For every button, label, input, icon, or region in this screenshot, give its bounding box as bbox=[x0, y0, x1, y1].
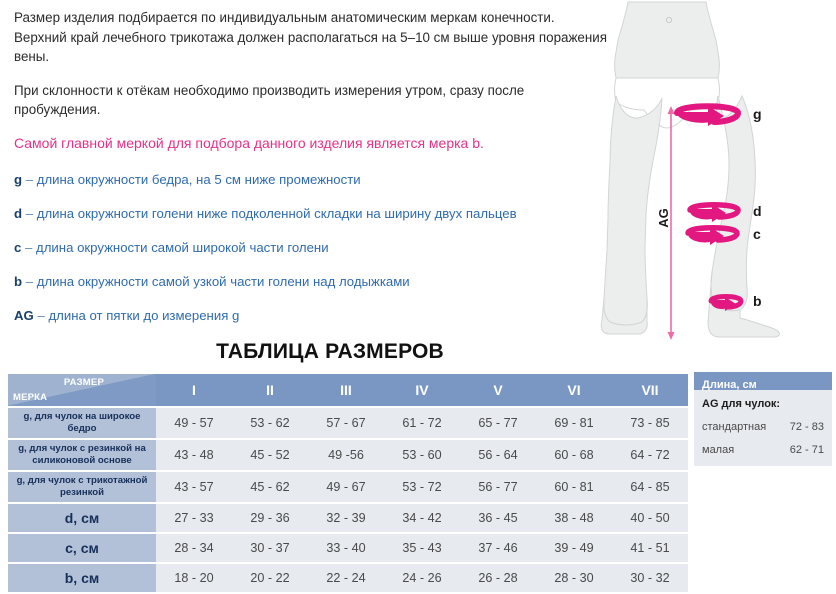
cell-r3-c3: 34 - 42 bbox=[384, 504, 460, 532]
definition-key-ag: AG bbox=[14, 308, 34, 323]
cell-r1-c6: 64 - 72 bbox=[612, 440, 688, 470]
intro-highlight: Самой главной меркой для подбора данного… bbox=[14, 134, 609, 154]
cell-r5-c3: 24 - 26 bbox=[384, 564, 460, 592]
length-row-standard-name: стандартная bbox=[702, 421, 766, 433]
definition-text-d: длина окружности голени ниже подколенной… bbox=[37, 206, 517, 221]
cell-r2-c5: 60 - 81 bbox=[536, 472, 612, 502]
cell-r4-c5: 39 - 49 bbox=[536, 534, 612, 562]
marker-label-d: d bbox=[753, 203, 762, 219]
definition-dash-d: – bbox=[26, 206, 33, 221]
cell-r3-c1: 29 - 36 bbox=[232, 504, 308, 532]
column-header-6: VI bbox=[536, 374, 612, 406]
marker-label-b: b bbox=[753, 293, 762, 309]
cell-r5-c6: 30 - 32 bbox=[612, 564, 688, 592]
cell-r2-c0: 43 - 57 bbox=[156, 472, 232, 502]
definition-b: b – длина окружности самой узкой части г… bbox=[14, 273, 609, 290]
table-row: d, см 27 - 33 29 - 36 32 - 39 34 - 42 36… bbox=[8, 504, 688, 532]
row-label-b: b, см bbox=[8, 564, 156, 592]
table-row: c, см 28 - 34 30 - 37 33 - 40 35 - 43 37… bbox=[8, 534, 688, 562]
row-label-d: d, см bbox=[8, 504, 156, 532]
corner-measure-label: МЕРКА bbox=[13, 392, 47, 403]
length-row-small: малая 62 - 71 bbox=[702, 444, 824, 456]
definition-text-ag: длина от пятки до измерения g bbox=[48, 308, 239, 323]
intro-paragraph-2: При склонности к отёкам необходимо произ… bbox=[14, 81, 609, 120]
definition-text-b: длина окружности самой узкой части голен… bbox=[37, 274, 410, 289]
marker-label-c: c bbox=[753, 226, 761, 242]
cell-r1-c1: 45 - 52 bbox=[232, 440, 308, 470]
definition-key-d: d bbox=[14, 206, 22, 221]
cell-r5-c0: 18 - 20 bbox=[156, 564, 232, 592]
row-label-g-wide-thigh: g, для чулок на широкое бедро bbox=[8, 408, 156, 438]
definition-dash-c: – bbox=[25, 240, 32, 255]
ag-label: AG bbox=[656, 208, 671, 228]
cell-r5-c4: 26 - 28 bbox=[460, 564, 536, 592]
cell-r0-c3: 61 - 72 bbox=[384, 408, 460, 438]
definition-dash-ag: – bbox=[37, 308, 44, 323]
row-label-g-knit-band: g, для чулок с трикотажной резинкой bbox=[8, 472, 156, 502]
page-title: ТАБЛИЦА РАЗМЕРОВ bbox=[0, 340, 660, 364]
definition-text-g: длина окружности бедра, на 5 см ниже про… bbox=[37, 172, 361, 187]
corner-size-label: РАЗМЕР bbox=[64, 377, 104, 388]
length-row-small-value: 62 - 71 bbox=[790, 444, 824, 456]
column-header-1: I bbox=[156, 374, 232, 406]
cell-r2-c4: 56 - 77 bbox=[460, 472, 536, 502]
length-row-standard: стандартная 72 - 83 bbox=[702, 421, 824, 433]
leg-measurement-illustration: AG bbox=[598, 0, 836, 345]
row-label-g-silicone-band: g, для чулок с резинкой на силиконовой о… bbox=[8, 440, 156, 470]
length-panel-body: AG для чулок: стандартная 72 - 83 малая … bbox=[694, 390, 832, 466]
cell-r0-c5: 69 - 81 bbox=[536, 408, 612, 438]
cell-r1-c5: 60 - 68 bbox=[536, 440, 612, 470]
cell-r1-c3: 53 - 60 bbox=[384, 440, 460, 470]
definition-key-c: c bbox=[14, 240, 21, 255]
cell-r4-c2: 33 - 40 bbox=[308, 534, 384, 562]
length-row-standard-value: 72 - 83 bbox=[790, 421, 824, 433]
cell-r4-c3: 35 - 43 bbox=[384, 534, 460, 562]
table-row: g, для чулок на широкое бедро 49 - 57 53… bbox=[8, 408, 688, 438]
cell-r3-c6: 40 - 50 bbox=[612, 504, 688, 532]
cell-r2-c1: 45 - 62 bbox=[232, 472, 308, 502]
definition-dash-g: – bbox=[26, 172, 33, 187]
cell-r5-c1: 20 - 22 bbox=[232, 564, 308, 592]
body-silhouette bbox=[601, 2, 779, 337]
definition-ag: AG – длина от пятки до измерения g bbox=[14, 307, 609, 324]
cell-r4-c4: 37 - 46 bbox=[460, 534, 536, 562]
definition-text-c: длина окружности самой широкой части гол… bbox=[36, 240, 329, 255]
cell-r3-c2: 32 - 39 bbox=[308, 504, 384, 532]
row-label-c: c, см bbox=[8, 534, 156, 562]
cell-r0-c0: 49 - 57 bbox=[156, 408, 232, 438]
length-panel: Длина, см AG для чулок: стандартная 72 -… bbox=[694, 372, 832, 466]
column-header-7: VII bbox=[612, 374, 688, 406]
cell-r2-c6: 64 - 85 bbox=[612, 472, 688, 502]
cell-r0-c4: 65 - 77 bbox=[460, 408, 536, 438]
cell-r1-c2: 49 -56 bbox=[308, 440, 384, 470]
cell-r5-c5: 28 - 30 bbox=[536, 564, 612, 592]
cell-r0-c6: 73 - 85 bbox=[612, 408, 688, 438]
definition-key-b: b bbox=[14, 274, 22, 289]
cell-r5-c2: 22 - 24 bbox=[308, 564, 384, 592]
cell-r2-c3: 53 - 72 bbox=[384, 472, 460, 502]
intro-text-column: Размер изделия подбирается по индивидуал… bbox=[14, 8, 609, 341]
table-row: b, см 18 - 20 20 - 22 22 - 24 24 - 26 26… bbox=[8, 564, 688, 592]
size-table: РАЗМЕР МЕРКА I II III IV V VI VII g, для… bbox=[8, 372, 688, 594]
cell-r1-c4: 56 - 64 bbox=[460, 440, 536, 470]
definition-dash-b: – bbox=[26, 274, 33, 289]
measurement-definitions-list: g – длина окружности бедра, на 5 см ниже… bbox=[14, 171, 609, 324]
definition-d: d – длина окружности голени ниже подколе… bbox=[14, 205, 609, 222]
marker-label-g: g bbox=[753, 106, 762, 122]
cell-r3-c0: 27 - 33 bbox=[156, 504, 232, 532]
definition-g: g – длина окружности бедра, на 5 см ниже… bbox=[14, 171, 609, 188]
cell-r0-c1: 53 - 62 bbox=[232, 408, 308, 438]
column-header-5: V bbox=[460, 374, 536, 406]
table-row: g, для чулок с трикотажной резинкой 43 -… bbox=[8, 472, 688, 502]
column-header-3: III bbox=[308, 374, 384, 406]
cell-r1-c0: 43 - 48 bbox=[156, 440, 232, 470]
cell-r3-c5: 38 - 48 bbox=[536, 504, 612, 532]
intro-paragraph-1: Размер изделия подбирается по индивидуал… bbox=[14, 8, 609, 67]
cell-r4-c6: 41 - 51 bbox=[612, 534, 688, 562]
cell-r4-c1: 30 - 37 bbox=[232, 534, 308, 562]
column-header-2: II bbox=[232, 374, 308, 406]
table-header-row: РАЗМЕР МЕРКА I II III IV V VI VII bbox=[8, 374, 688, 406]
cell-r4-c0: 28 - 34 bbox=[156, 534, 232, 562]
cell-r2-c2: 49 - 67 bbox=[308, 472, 384, 502]
table-row: g, для чулок с резинкой на силиконовой о… bbox=[8, 440, 688, 470]
definition-key-g: g bbox=[14, 172, 22, 187]
table-body: g, для чулок на широкое бедро 49 - 57 53… bbox=[8, 408, 688, 592]
cell-r3-c4: 36 - 45 bbox=[460, 504, 536, 532]
header-corner-cell: РАЗМЕР МЕРКА bbox=[8, 374, 156, 406]
cell-r0-c2: 57 - 67 bbox=[308, 408, 384, 438]
length-panel-header: Длина, см bbox=[694, 372, 832, 390]
length-panel-subtitle: AG для чулок: bbox=[702, 398, 824, 410]
column-header-4: IV bbox=[384, 374, 460, 406]
size-table-container: РАЗМЕР МЕРКА I II III IV V VI VII g, для… bbox=[8, 372, 688, 594]
length-row-small-name: малая bbox=[702, 444, 734, 456]
definition-c: c – длина окружности самой широкой части… bbox=[14, 239, 609, 256]
